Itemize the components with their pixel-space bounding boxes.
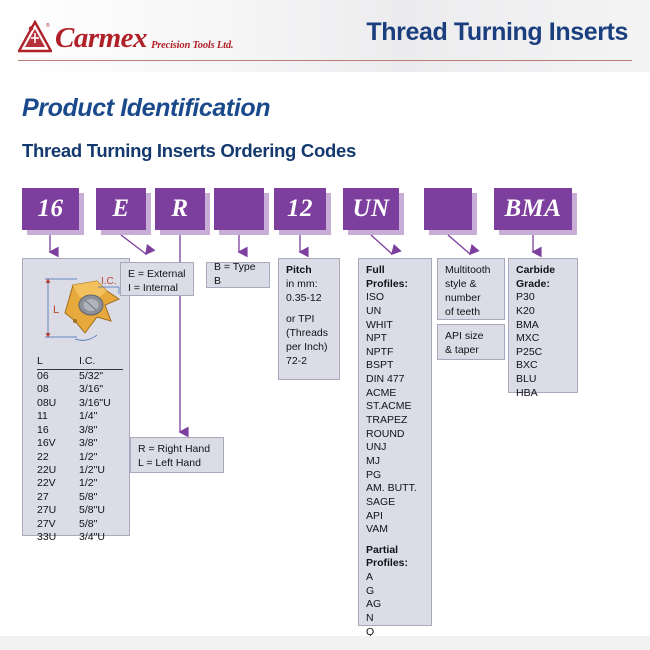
api-line-1: API size [445, 330, 497, 344]
full-profile-item: UN [366, 305, 424, 319]
full-profile-item: NPT [366, 332, 424, 346]
full-profile-item: WHIT [366, 319, 424, 333]
table-row: 275/8" [37, 491, 123, 504]
full-profile-item: UNJ [366, 441, 424, 455]
full-profile-item: ISO [366, 291, 424, 305]
full-profile-item: TRAPEZ [366, 414, 424, 428]
size-code-cell: 22U [37, 464, 79, 477]
multitooth-box: Multitooth style & number of teeth [437, 258, 505, 320]
partial-profile-item: N [366, 612, 424, 626]
carbide-grade-item: BXC [516, 359, 570, 373]
size-ic-cell: 5/32" [79, 369, 123, 383]
table-row: 33U3/4"U [37, 531, 123, 544]
size-ic-cell: 1/4" [79, 410, 123, 423]
page-header: ® Carmex Precision Tools Ltd. Thread Tur… [0, 0, 650, 72]
external-line: E = External [128, 268, 186, 282]
partial-profiles-title-2: Profiles: [366, 557, 424, 571]
type-line: B = Type B [214, 261, 262, 289]
pitch-tpi-word1: (Threads [286, 327, 332, 341]
size-code-cell: 16V [37, 437, 79, 450]
full-profile-item: NPTF [366, 346, 424, 360]
profiles-box: Full Profiles: ISOUNWHITNPTNPTFBSPTDIN 4… [358, 258, 432, 626]
size-ic-cell: 3/16"U [79, 397, 123, 410]
size-code-cell: 27 [37, 491, 79, 504]
type-box: B = Type B [206, 262, 270, 288]
size-code-cell: 27U [37, 504, 79, 517]
multitooth-line-2: style & [445, 278, 497, 292]
table-header-row: L I.C. [37, 355, 123, 369]
pitch-title: Pitch [286, 264, 332, 278]
size-code-cell: 08 [37, 383, 79, 396]
full-profile-item: DIN 477 [366, 373, 424, 387]
carbide-grade-item: BMA [516, 319, 570, 333]
partial-profiles-title-1: Partial [366, 544, 424, 558]
multitooth-line-1: Multitooth [445, 264, 497, 278]
size-table: L I.C. 065/32"083/16"08U3/16"U111/4"163/… [37, 355, 123, 545]
full-profile-item: AM. BUTT. [366, 482, 424, 496]
size-ic-cell: 5/8" [79, 491, 123, 504]
header-title: Thread Turning Inserts [366, 18, 628, 47]
full-profile-item: ROUND [366, 428, 424, 442]
size-code-cell: 08U [37, 397, 79, 410]
code-box-direction[interactable]: E [96, 188, 146, 230]
api-line-2: & taper [445, 344, 497, 358]
size-ic-cell: 1/2" [79, 477, 123, 490]
multitooth-line-4: of teeth [445, 306, 497, 320]
carbide-grade-item: BLU [516, 373, 570, 387]
table-row: 083/16" [37, 383, 123, 396]
api-box: API size & taper [437, 324, 505, 360]
svg-text:®: ® [46, 22, 50, 29]
full-profile-item: API [366, 510, 424, 524]
size-ic-cell: 3/8" [79, 424, 123, 437]
full-profile-item: ST.ACME [366, 400, 424, 414]
size-code-cell: 06 [37, 369, 79, 383]
partial-profile-item: A [366, 571, 424, 585]
pitch-tpi-word2: per Inch) [286, 341, 332, 355]
table-row: 08U3/16"U [37, 397, 123, 410]
table-row: 22U1/2"U [37, 464, 123, 477]
page-subtitle: Thread Turning Inserts Ordering Codes [22, 140, 356, 162]
size-code-cell: 22 [37, 451, 79, 464]
table-row: 163/8" [37, 424, 123, 437]
code-box-size[interactable]: 16 [22, 188, 79, 230]
carbide-grade-item: P25C [516, 346, 570, 360]
size-ic-cell: 3/16" [79, 383, 123, 396]
table-row: 111/4" [37, 410, 123, 423]
size-code-cell: 16 [37, 424, 79, 437]
pitch-mm-label: in mm: [286, 278, 332, 292]
carbide-grade-item: HBA [516, 387, 570, 401]
full-profile-item: MJ [366, 455, 424, 469]
size-ic-cell: 1/2" [79, 451, 123, 464]
partial-profile-item: AG [366, 598, 424, 612]
full-profile-item: SAGE [366, 496, 424, 510]
partial-profile-item: G [366, 585, 424, 599]
logo-tagline: Precision Tools Ltd. [151, 40, 233, 51]
page-title: Product Identification [22, 94, 270, 123]
svg-text:I.C.: I.C. [101, 276, 117, 287]
full-profile-item: ACME [366, 387, 424, 401]
table-row: 27U5/8"U [37, 504, 123, 517]
size-ic-cell: 3/8" [79, 437, 123, 450]
carbide-grade-item: P30 [516, 291, 570, 305]
carbide-grade-item: K20 [516, 305, 570, 319]
carbide-title-1: Carbide [516, 264, 570, 278]
carbide-title-2: Grade: [516, 278, 570, 292]
svg-text:L: L [53, 304, 59, 316]
carmex-triangle-logo: ® [18, 20, 52, 54]
size-code-cell: 11 [37, 410, 79, 423]
internal-line: I = Internal [128, 282, 186, 296]
table-row: 16V3/8" [37, 437, 123, 450]
pitch-tpi-label: or TPI [286, 313, 332, 327]
multitooth-line-3: number [445, 292, 497, 306]
header-divider [18, 60, 632, 61]
logo-wordmark: Carmex [55, 24, 147, 53]
code-box-profile[interactable]: UN [343, 188, 399, 230]
table-row: 27V5/8" [37, 518, 123, 531]
size-code-cell: 22V [37, 477, 79, 490]
col-header-l: L [37, 355, 79, 369]
full-profile-item: VAM [366, 523, 424, 537]
hand-box: R = Right Hand L = Left Hand [130, 437, 224, 473]
full-profiles-title-1: Full [366, 264, 424, 278]
code-box-multitooth[interactable] [424, 188, 472, 230]
full-profile-item: PG [366, 469, 424, 483]
full-profiles-title-2: Profiles: [366, 278, 424, 292]
code-box-type[interactable] [214, 188, 264, 230]
size-ic-cell: 3/4"U [79, 531, 123, 544]
code-box-hand[interactable]: R [155, 188, 205, 230]
size-ic-cell: 5/8" [79, 518, 123, 531]
table-row: 22V1/2" [37, 477, 123, 490]
table-row: 065/32" [37, 369, 123, 383]
pitch-tpi-range: 72-2 [286, 355, 332, 369]
product-identification-page: ® Carmex Precision Tools Ltd. Thread Tur… [0, 0, 650, 650]
left-hand-line: L = Left Hand [138, 457, 216, 471]
insert-size-box: L I.C. L I.C. [22, 258, 130, 536]
full-profile-item: BSPT [366, 359, 424, 373]
code-box-pitch[interactable]: 12 [274, 188, 326, 230]
size-code-cell: 27V [37, 518, 79, 531]
size-ic-cell: 1/2"U [79, 464, 123, 477]
col-header-ic: I.C. [79, 355, 123, 369]
pitch-box: Pitch in mm: 0.35-12 or TPI (Threads per… [278, 258, 340, 380]
carbide-grade-box: Carbide Grade: P30K20BMAMXCP25CBXCBLUHBA [508, 258, 578, 393]
external-internal-box: E = External I = Internal [120, 262, 194, 296]
size-ic-cell: 5/8"U [79, 504, 123, 517]
carbide-grade-item: MXC [516, 332, 570, 346]
size-code-cell: 33U [37, 531, 79, 544]
footer-strip [0, 636, 650, 650]
code-box-grade[interactable]: BMA [494, 188, 572, 230]
table-row: 221/2" [37, 451, 123, 464]
pitch-mm-range: 0.35-12 [286, 292, 332, 306]
right-hand-line: R = Right Hand [138, 443, 216, 457]
carmex-logo: ® Carmex Precision Tools Ltd. [18, 20, 233, 54]
